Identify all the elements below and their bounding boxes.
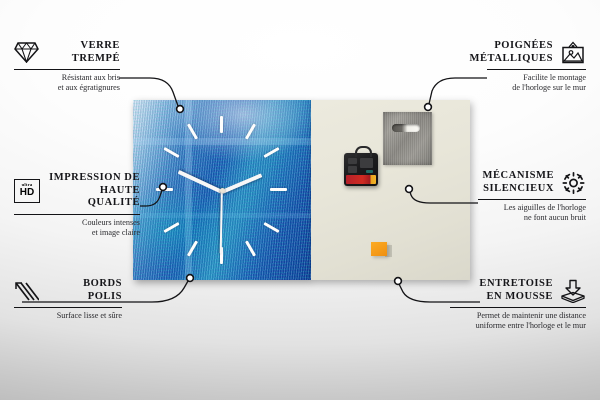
feature-divider (478, 199, 586, 200)
feature-title-line2: POLIS (46, 291, 122, 304)
connector-endpoint-verre-trempe (177, 106, 184, 113)
feature-sub-line1: Permet de maintenir une distance (450, 311, 586, 321)
feature-divider (14, 69, 120, 70)
ultra-hd-icon-bottom: HD (20, 188, 34, 198)
polished-edges-icon (14, 280, 39, 302)
spacer-press-icon (560, 279, 586, 303)
feature-title-line2: HAUTE QUALITÉ (47, 185, 140, 210)
feature-impression-haute-qualite: ultra HD IMPRESSION DE HAUTE QUALITÉ Cou… (14, 172, 140, 238)
feature-verre-trempe: VERRE TREMPÉ Résistant aux bris et aux é… (14, 40, 120, 93)
feature-bords-polis: BORDS POLIS Surface lisse et sûre (14, 278, 122, 321)
connector-endpoint-bords-polis (187, 275, 194, 282)
connector-endpoint-mecanisme (406, 186, 413, 193)
feature-title-line1: IMPRESSION DE (47, 172, 140, 185)
feature-divider (14, 307, 122, 308)
feature-sub-line1: Surface lisse et sûre (14, 311, 122, 321)
feature-title-line1: VERRE (46, 40, 120, 53)
connector-impression (140, 190, 162, 206)
feature-title-line2: SILENCIEUX (478, 183, 554, 196)
feature-sub-line2: uniforme entre l'horloge et le mur (450, 321, 586, 331)
diamond-icon (14, 42, 39, 64)
infographic-canvas: VERRE TREMPÉ Résistant aux bris et aux é… (0, 0, 600, 400)
picture-hanger-icon (560, 41, 586, 65)
feature-sub-line1: Facilite le montage (487, 73, 586, 83)
feature-entretoise-en-mousse: ENTRETOISE EN MOUSSE Permet de maintenir… (450, 278, 586, 331)
feature-sub-line2: de l'horloge sur le mur (487, 83, 586, 93)
connector-endpoint-impression (160, 184, 167, 191)
feature-sub-line1: Les aiguilles de l'horloge (478, 203, 586, 213)
feature-divider (450, 307, 586, 308)
gear-icon (561, 171, 586, 195)
connector-mecanisme (410, 192, 478, 203)
feature-title-line2: TREMPÉ (46, 53, 120, 66)
connector-endpoint-entretoise (395, 278, 402, 285)
ultra-hd-icon: ultra HD (14, 179, 40, 203)
feature-mecanisme-silencieux: MÉCANISME SILENCIEUX Les aiguilles de l'… (478, 170, 586, 223)
feature-sub-line2: ne font aucun bruit (478, 213, 586, 223)
connector-poignees (429, 78, 487, 104)
feature-title-line1: BORDS (46, 278, 122, 291)
feature-divider (14, 214, 140, 215)
feature-poignees-metalliques: POIGNÉES MÉTALLIQUES Facilite le montage… (487, 40, 586, 93)
feature-sub-line2: et aux égratignures (14, 83, 120, 93)
feature-sub-line1: Couleurs intenses (14, 218, 140, 228)
feature-title-line2: EN MOUSSE (450, 291, 553, 304)
feature-divider (487, 69, 586, 70)
feature-sub-line2: et image claire (14, 228, 140, 238)
feature-title-line1: MÉCANISME (478, 170, 554, 183)
feature-title-line2: MÉTALLIQUES (470, 53, 553, 66)
feature-title-line1: ENTRETOISE (450, 278, 553, 291)
connector-endpoint-poignees (425, 104, 432, 111)
feature-sub-line1: Résistant aux bris (14, 73, 120, 83)
feature-title-line1: POIGNÉES (470, 40, 553, 53)
connector-verre-trempe (119, 78, 178, 106)
